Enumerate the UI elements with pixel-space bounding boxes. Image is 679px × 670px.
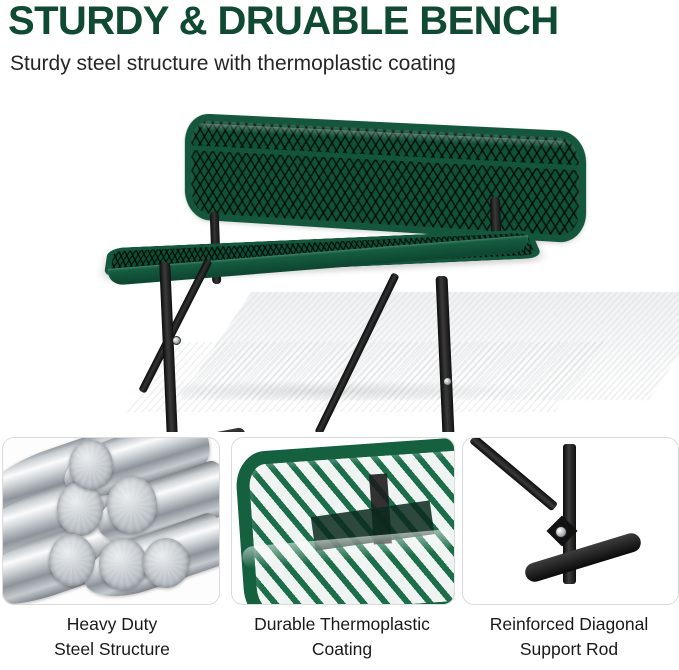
- diagonal-rod-closeup: [469, 437, 558, 511]
- joint-bolt-icon: [555, 526, 567, 538]
- panel-thermoplastic-coating: [231, 437, 455, 605]
- caption-support-rod: Reinforced Diagonal Support Rod: [460, 612, 678, 662]
- caption-line-1: Reinforced Diagonal: [460, 612, 678, 637]
- bench-foot-left: [148, 427, 247, 432]
- hero-product-image: [0, 92, 679, 432]
- panel-steel-rods: [2, 437, 220, 605]
- t-foot-closeup: [523, 531, 643, 584]
- page-title: STURDY & DRUABLE BENCH: [8, 0, 668, 44]
- backrest-rail: [191, 145, 578, 170]
- page-subtitle: Sturdy steel structure with thermoplasti…: [10, 50, 670, 78]
- caption-line-2: Coating: [228, 637, 456, 662]
- caption-thermoplastic-coating: Durable Thermoplastic Coating: [228, 612, 456, 662]
- panel-captions: Heavy Duty Steel Structure Durable Therm…: [0, 612, 679, 670]
- caption-line-1: Durable Thermoplastic: [228, 612, 456, 637]
- caption-line-1: Heavy Duty: [6, 612, 218, 637]
- backrest-highlight: [201, 123, 565, 148]
- caption-steel-structure: Heavy Duty Steel Structure: [6, 612, 218, 662]
- steel-rods-image: [3, 438, 219, 604]
- caption-line-2: Steel Structure: [6, 637, 218, 662]
- caption-line-2: Support Rod: [460, 637, 678, 662]
- product-feature-banner: STURDY & DRUABLE BENCH Sturdy steel stru…: [0, 0, 679, 670]
- bench-backrest: [185, 113, 586, 244]
- bolt-left: [172, 336, 181, 345]
- bolt-right: [443, 377, 452, 386]
- feature-panels: [0, 437, 679, 605]
- panel-support-rod: [462, 437, 679, 605]
- mesh-closeup-image: [234, 437, 455, 605]
